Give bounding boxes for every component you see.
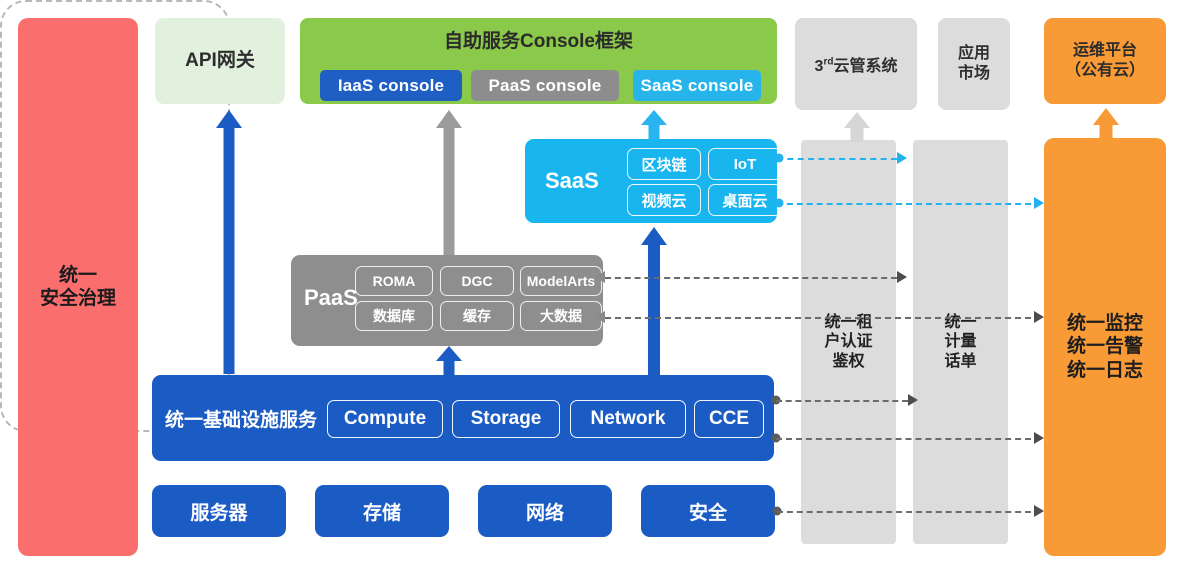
dashed-iaas-to-meter xyxy=(776,400,908,402)
paas-layer-label: PaaS xyxy=(304,285,358,311)
self-service-console-framework: 自助服务Console框架 IaaS console PaaS console … xyxy=(300,18,777,104)
hardware-server-label: 服务器 xyxy=(190,498,247,525)
arrow-iaas-to-api-gateway xyxy=(216,110,242,374)
iaas-chip-cce[interactable]: CCE xyxy=(694,400,764,438)
dot-saas-ops xyxy=(775,199,784,208)
third-party-cloud-management-box: 3rd云管系统 xyxy=(795,18,917,110)
saas-console-button[interactable]: SaaS console xyxy=(633,70,761,101)
saas-chip-blockchain[interactable]: 区块链 xyxy=(627,148,701,180)
hardware-box-security: 安全 xyxy=(641,485,775,537)
paas-chip-database[interactable]: 数据库 xyxy=(355,301,433,331)
paas-console-button[interactable]: PaaS console xyxy=(471,70,619,101)
arrow-paas-to-console xyxy=(436,110,462,255)
paas-layer: PaaS ROMA DGC ModelArts 数据库 缓存 大数据 xyxy=(291,255,603,346)
saas-layer: SaaS 区块链 IoT 视频云 桌面云 xyxy=(525,139,777,223)
hardware-security-label: 安全 xyxy=(689,498,727,525)
saas-chip-iot[interactable]: IoT xyxy=(708,148,782,180)
iaas-console-button[interactable]: IaaS console xyxy=(320,70,462,101)
iaas-layer: 统一基础设施服务 Compute Storage Network CCE xyxy=(152,375,774,461)
arrowhead-iaas-to-meter xyxy=(908,394,918,406)
unified-metering-label: 统一 计量 话单 xyxy=(944,313,976,372)
ops-platform-box: 运维平台 （公有云） xyxy=(1044,18,1166,104)
arrowhead-auth-to-paas xyxy=(595,271,605,283)
arrowhead-hardware-to-ops xyxy=(1034,505,1044,517)
arrow-iaas-to-paas xyxy=(436,346,462,375)
third-party-cloud-label: 3rd云管系统 xyxy=(815,52,898,76)
dashed-saas-to-ops xyxy=(777,203,1041,205)
dashed-saas-to-auth xyxy=(777,158,897,160)
api-gateway-label: API网关 xyxy=(185,49,255,72)
paas-chip-cache[interactable]: 缓存 xyxy=(440,301,514,331)
arrow-iaas-to-saas xyxy=(641,227,667,375)
unified-security-governance-label: 统一 安全治理 xyxy=(40,264,116,310)
hardware-box-server: 服务器 xyxy=(152,485,286,537)
iaas-layer-label: 统一基础设施服务 xyxy=(165,405,317,432)
hardware-network-label: 网络 xyxy=(526,498,564,525)
console-framework-title: 自助服务Console框架 xyxy=(300,26,777,53)
unified-metering-pillar: 统一 计量 话单 xyxy=(913,140,1008,544)
unified-monitoring-pillar: 统一监控 统一告警 统一日志 xyxy=(1044,138,1166,556)
arrowhead-paas-to-ops xyxy=(1034,311,1044,323)
arrowhead-saas-to-auth xyxy=(897,152,907,164)
arrow-ops-pillar-to-platform xyxy=(1092,108,1120,140)
arrowhead-paas-to-meter xyxy=(897,271,907,283)
paas-chip-modelarts[interactable]: ModelArts xyxy=(520,266,602,296)
paas-chip-bigdata[interactable]: 大数据 xyxy=(520,301,602,331)
app-market-label: 应用 市场 xyxy=(958,44,990,83)
saas-chip-desktop-cloud[interactable]: 桌面云 xyxy=(708,184,782,216)
iaas-chip-storage[interactable]: Storage xyxy=(452,400,560,438)
hardware-storage-label: 存储 xyxy=(363,498,401,525)
dot-saas-auth xyxy=(775,154,784,163)
arrow-pillar-to-third-cloud xyxy=(843,112,871,142)
unified-tenant-auth-pillar: 统一租 户认证 鉴权 xyxy=(801,140,896,544)
hardware-box-network: 网络 xyxy=(478,485,612,537)
dashed-hardware-to-ops xyxy=(777,511,1041,513)
ops-platform-label: 运维平台 （公有云） xyxy=(1065,41,1145,80)
architecture-diagram: 统一 安全治理 API网关 自助服务Console框架 IaaS console… xyxy=(0,0,1200,574)
saas-chip-video-cloud[interactable]: 视频云 xyxy=(627,184,701,216)
saas-layer-label: SaaS xyxy=(545,168,599,194)
arrow-saas-to-console xyxy=(641,110,667,139)
hardware-box-storage: 存储 xyxy=(315,485,449,537)
iaas-chip-network[interactable]: Network xyxy=(570,400,686,438)
unified-tenant-auth-label: 统一租 户认证 鉴权 xyxy=(824,313,872,372)
unified-security-governance-pillar: 统一 安全治理 xyxy=(18,18,138,556)
dashed-iaas-to-ops xyxy=(776,438,1041,440)
unified-monitoring-label: 统一监控 统一告警 统一日志 xyxy=(1067,312,1143,382)
iaas-chip-compute[interactable]: Compute xyxy=(327,400,443,438)
app-market-box: 应用 市场 xyxy=(938,18,1010,110)
arrowhead-saas-to-ops xyxy=(1034,197,1044,209)
paas-chip-dgc[interactable]: DGC xyxy=(440,266,514,296)
dashed-paas-to-auth xyxy=(605,277,897,279)
api-gateway-box: API网关 xyxy=(155,18,285,104)
paas-chip-roma[interactable]: ROMA xyxy=(355,266,433,296)
arrowhead-iaas-to-ops xyxy=(1034,432,1044,444)
dashed-paas-to-ops xyxy=(605,317,1041,319)
arrowhead-ops-to-paas xyxy=(595,311,605,323)
